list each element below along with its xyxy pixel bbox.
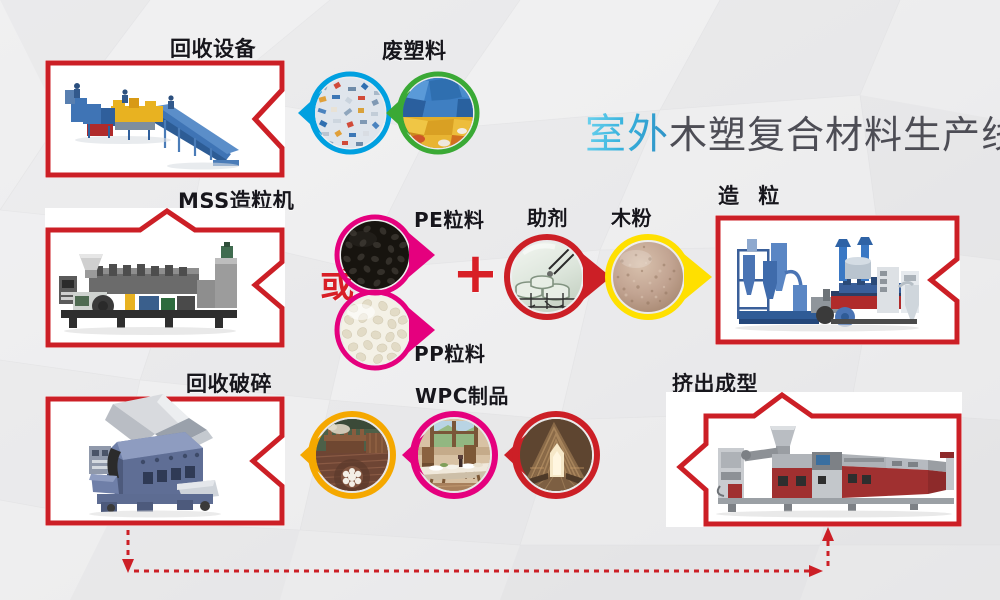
- arrowhead-down: [122, 559, 134, 573]
- infographic-canvas: 室外木塑复合材料生产线 回收设备: [0, 0, 1000, 600]
- arrowhead-up: [822, 527, 834, 541]
- feedback-loop-route: [0, 0, 1000, 600]
- arrowhead-right: [809, 565, 823, 577]
